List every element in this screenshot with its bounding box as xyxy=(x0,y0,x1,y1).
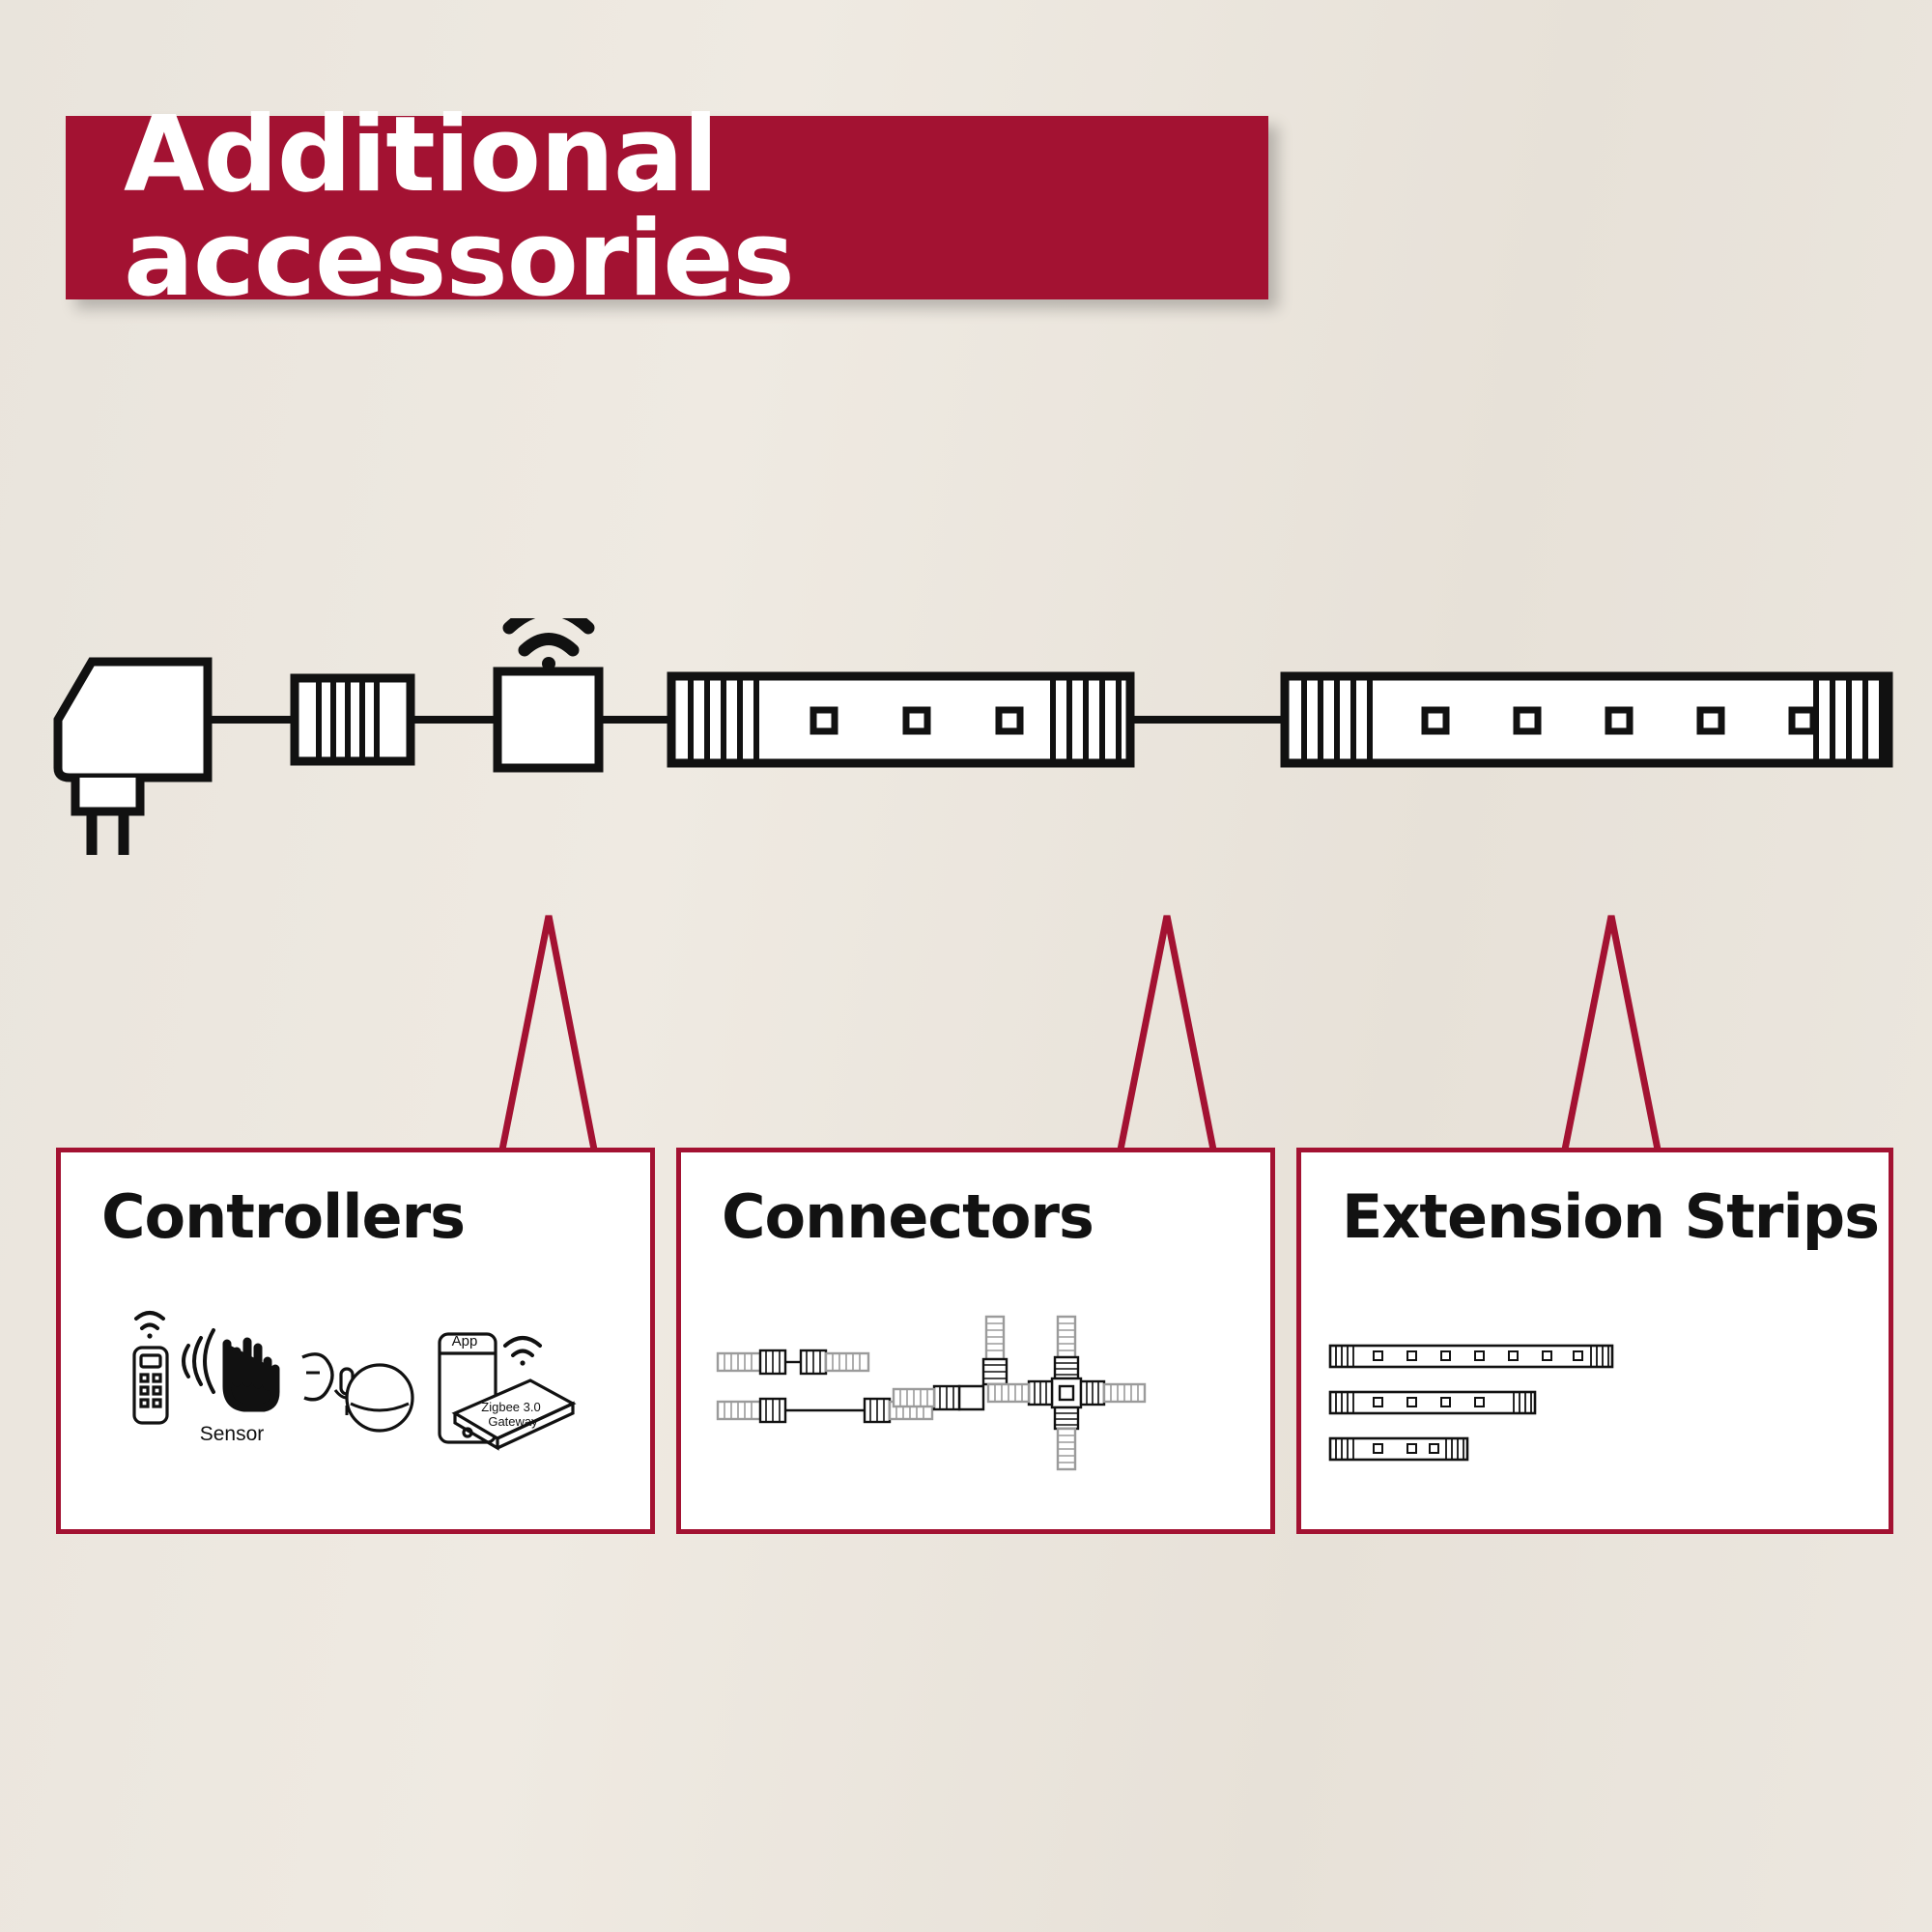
callout-pointers xyxy=(0,898,1932,1169)
connectors-art xyxy=(681,1297,1270,1539)
card-title-connectors: Connectors xyxy=(722,1181,1094,1252)
extension-strip-medium-icon xyxy=(1330,1392,1535,1413)
gateway-label-line2: Gateway xyxy=(488,1414,538,1429)
extension-strip-short-icon xyxy=(1330,1438,1467,1460)
remote-control-icon xyxy=(134,1313,167,1423)
card-controllers[interactable]: Controllers xyxy=(56,1148,655,1534)
card-extension-strips[interactable]: Extension Strips xyxy=(1296,1148,1893,1534)
gateway-label-line1: Zigbee 3.0 xyxy=(481,1400,540,1414)
led-strip-system-diagram xyxy=(0,618,1932,908)
app-label: App xyxy=(452,1333,478,1350)
sensor-label: Sensor xyxy=(200,1423,265,1445)
strip-connector-icon-1 xyxy=(295,678,411,761)
power-supply-icon xyxy=(58,662,208,855)
wireless-controller-icon xyxy=(497,671,599,768)
cross-connector-icon xyxy=(988,1317,1145,1469)
led-strip-icon-1 xyxy=(671,676,1130,763)
wifi-icon xyxy=(509,618,588,670)
card-title-extension: Extension Strips xyxy=(1342,1181,1879,1252)
extension-strips-art xyxy=(1301,1297,1889,1539)
card-title-controllers: Controllers xyxy=(101,1181,465,1252)
controllers-art: App Zigbee 3.0 Gateway Sensor xyxy=(61,1297,650,1539)
page-title: Additional accessories xyxy=(124,103,1268,312)
led-strip-icon-2 xyxy=(1285,676,1889,763)
voice-assistant-icon xyxy=(302,1354,412,1431)
straight-connector-icon xyxy=(718,1350,932,1422)
extension-strip-long-icon xyxy=(1330,1346,1612,1367)
title-banner: Additional accessories xyxy=(66,116,1268,299)
wifi-small-icon xyxy=(505,1338,540,1366)
motion-sensor-hand-icon xyxy=(184,1330,275,1407)
card-connectors[interactable]: Connectors xyxy=(676,1148,1275,1534)
